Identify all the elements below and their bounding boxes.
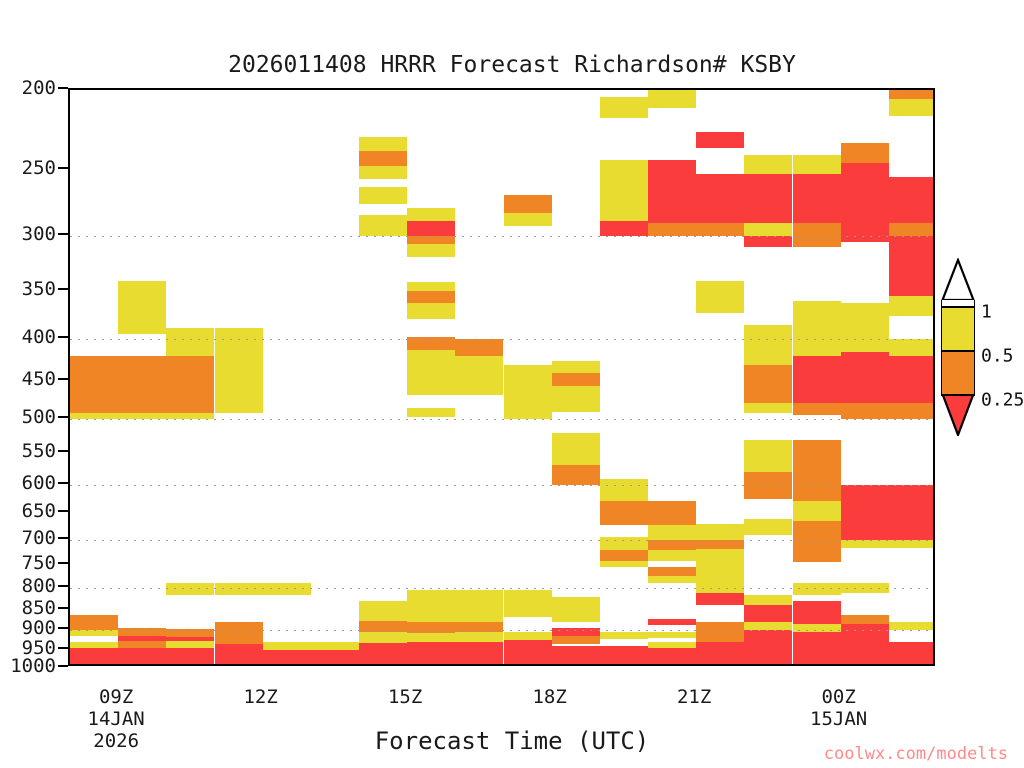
x-tick-time: 21Z bbox=[677, 686, 711, 708]
y-axis-tick-label: 900 bbox=[0, 617, 56, 639]
y-axis-tick-label: 600 bbox=[0, 472, 56, 494]
x-tick-time: 12Z bbox=[243, 686, 277, 708]
y-axis-tick-mark bbox=[58, 537, 68, 539]
y-axis-tick-label: 500 bbox=[0, 406, 56, 428]
y-axis-tick-label: 950 bbox=[0, 637, 56, 659]
y-axis-tick-mark bbox=[58, 562, 68, 564]
y-axis-tick-label: 700 bbox=[0, 527, 56, 549]
colorbar-tick-label: 0.25 bbox=[981, 390, 1024, 411]
colorbar: 10.50.25 bbox=[941, 300, 975, 464]
y-axis-tick-label: 350 bbox=[0, 278, 56, 300]
colorbar-segment-yellow bbox=[941, 306, 975, 350]
colorbar-tick-label: 0.5 bbox=[981, 346, 1014, 367]
x-axis-tick-label: 12Z bbox=[243, 686, 277, 708]
x-tick-time: 09Z bbox=[99, 686, 133, 708]
watermark: coolwx.com/modelts bbox=[824, 744, 1008, 764]
colorbar-segment-orange bbox=[941, 350, 975, 394]
y-axis-tick-label: 400 bbox=[0, 326, 56, 348]
y-axis-tick-mark bbox=[58, 87, 68, 89]
y-axis-tick-mark bbox=[58, 585, 68, 587]
y-axis-tick-mark bbox=[58, 510, 68, 512]
terrain-band-layer bbox=[70, 90, 933, 664]
plot-area bbox=[68, 88, 935, 666]
y-axis-tick-label: 750 bbox=[0, 552, 56, 574]
y-axis-tick-mark bbox=[58, 167, 68, 169]
chart-root: 2026011408 HRRR Forecast Richardson# KSB… bbox=[0, 0, 1024, 768]
y-axis-tick-label: 550 bbox=[0, 440, 56, 462]
y-axis-tick-label: 250 bbox=[0, 157, 56, 179]
y-axis-tick-label: 450 bbox=[0, 368, 56, 390]
colorbar-tick-rule bbox=[941, 394, 975, 396]
y-axis-tick-mark bbox=[58, 336, 68, 338]
x-tick-time: 18Z bbox=[532, 686, 566, 708]
y-axis-tick-mark bbox=[58, 378, 68, 380]
y-axis-tick-mark bbox=[58, 482, 68, 484]
colorbar-tick-rule bbox=[941, 350, 975, 352]
colorbar-tick-label: 1 bbox=[981, 302, 992, 323]
y-axis-tick-label: 200 bbox=[0, 77, 56, 99]
x-tick-time: 00Z bbox=[821, 686, 855, 708]
y-axis-tick-mark bbox=[58, 607, 68, 609]
y-axis-tick-mark bbox=[58, 450, 68, 452]
y-axis-tick-mark bbox=[58, 627, 68, 629]
y-axis-tick-mark bbox=[58, 288, 68, 290]
y-axis-tick-mark bbox=[58, 416, 68, 418]
y-axis-tick-mark bbox=[58, 233, 68, 235]
colorbar-top-arrow bbox=[941, 258, 975, 300]
y-axis-tick-label: 650 bbox=[0, 500, 56, 522]
x-axis-tick-label: 18Z bbox=[532, 686, 566, 708]
x-axis-tick-label: 21Z bbox=[677, 686, 711, 708]
x-axis-tick-label: 15Z bbox=[388, 686, 422, 708]
colorbar-tick-rule bbox=[941, 306, 975, 308]
y-axis-tick-label: 300 bbox=[0, 223, 56, 245]
x-tick-time: 15Z bbox=[388, 686, 422, 708]
chart-title: 2026011408 HRRR Forecast Richardson# KSB… bbox=[0, 52, 1024, 78]
colorbar-bottom-arrow bbox=[941, 394, 975, 436]
y-axis-tick-mark bbox=[58, 665, 68, 667]
y-axis-tick-mark bbox=[58, 647, 68, 649]
x-axis-tick-label: 00Z15JAN bbox=[810, 686, 867, 730]
y-axis-tick-label: 800 bbox=[0, 575, 56, 597]
y-axis-tick-label: 850 bbox=[0, 597, 56, 619]
